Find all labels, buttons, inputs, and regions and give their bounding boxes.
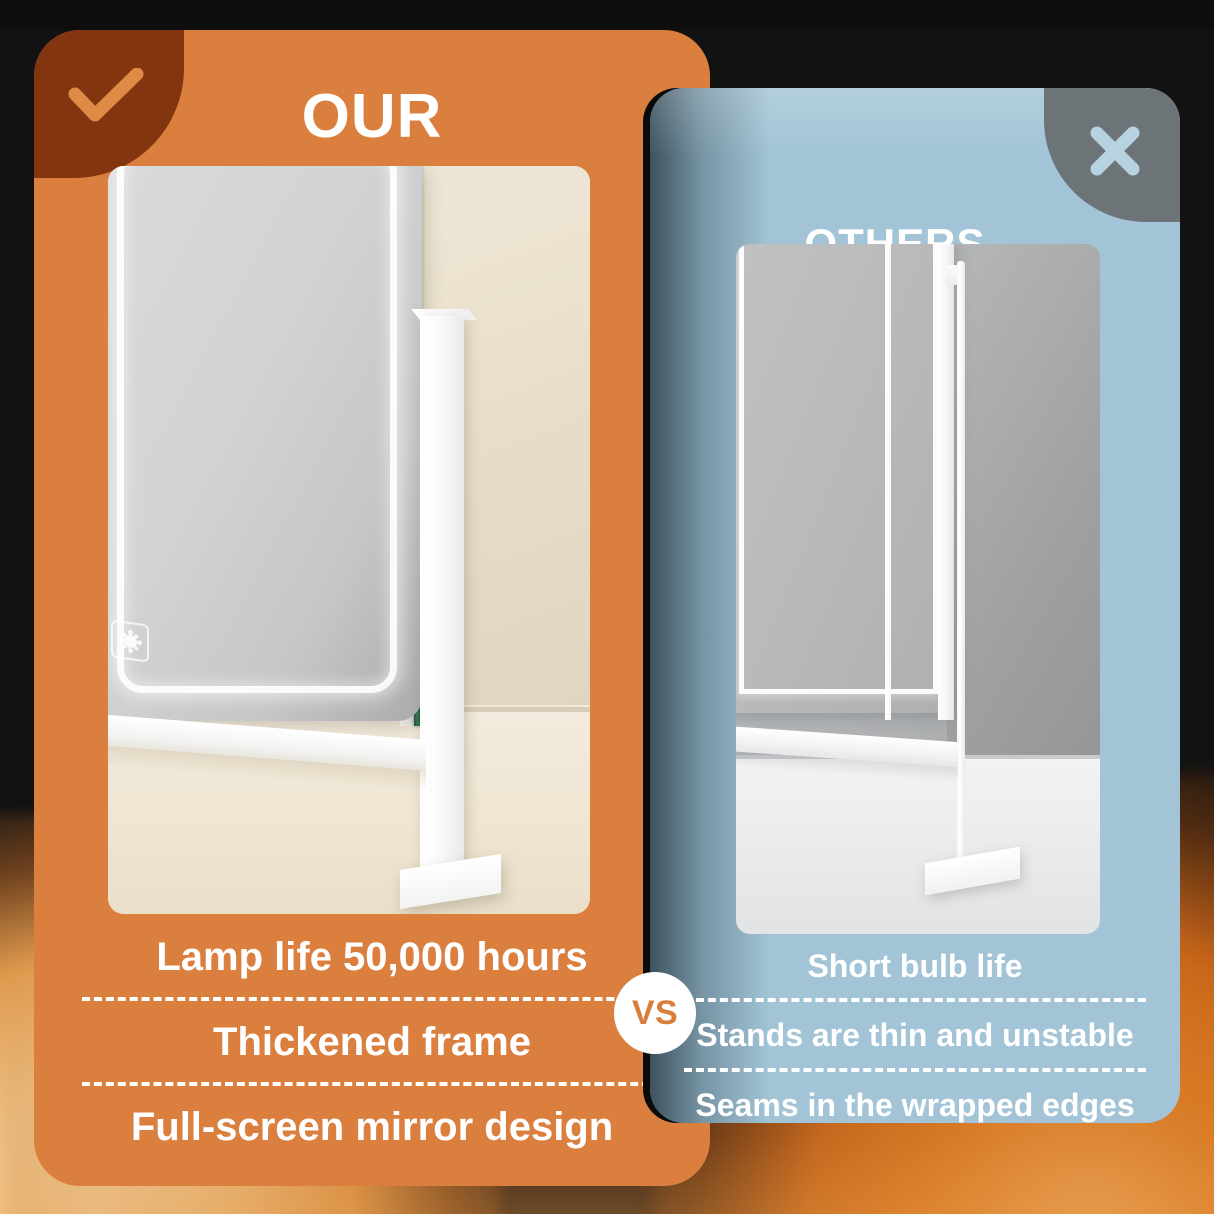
our-panel: OUR (34, 30, 710, 1186)
others-feature-divider (684, 998, 1146, 1002)
our-product-image (108, 166, 590, 914)
others-mirror-side-panel (938, 244, 954, 720)
others-feature-divider (684, 1068, 1146, 1072)
comparison-infographic: OUR (0, 0, 1214, 1214)
others-product-image (736, 244, 1100, 934)
others-feature-item: Short bulb life (668, 943, 1162, 988)
others-scene-floor (736, 755, 1100, 934)
our-feature-item: Thickened frame (60, 1013, 684, 1070)
others-feature-item: Stands are thin and unstable (668, 1012, 1162, 1057)
sun-glyph (124, 634, 137, 649)
others-close-badge (1044, 88, 1180, 222)
our-feature-divider (82, 997, 662, 1001)
our-feature-item: Lamp life 50,000 hours (60, 928, 684, 985)
others-stand-rod (957, 261, 965, 882)
our-stand-post (420, 316, 463, 877)
others-wrapped-edge-seam (885, 244, 891, 720)
others-panel: OTHERS Short bulb life (650, 88, 1180, 1123)
brightness-sun-icon (111, 619, 149, 662)
vs-badge: VS (614, 972, 696, 1054)
our-led-frame (117, 166, 397, 693)
our-title: OUR (34, 86, 710, 148)
our-feature-list: Lamp life 50,000 hours Thickened frame F… (60, 928, 684, 1156)
our-feature-item: Full-screen mirror design (60, 1098, 684, 1155)
our-feature-divider (82, 1082, 662, 1086)
others-thin-frame (739, 244, 939, 694)
others-scene-wall-right (947, 244, 1100, 768)
our-mirror-surface (108, 166, 422, 721)
others-feature-list: Short bulb life Stands are thin and unst… (668, 943, 1162, 1123)
others-mirror-surface (736, 244, 954, 713)
background-top-strip (0, 0, 1214, 30)
close-x-icon (1082, 122, 1142, 189)
others-feature-item: Seams in the wrapped edges (668, 1082, 1162, 1123)
